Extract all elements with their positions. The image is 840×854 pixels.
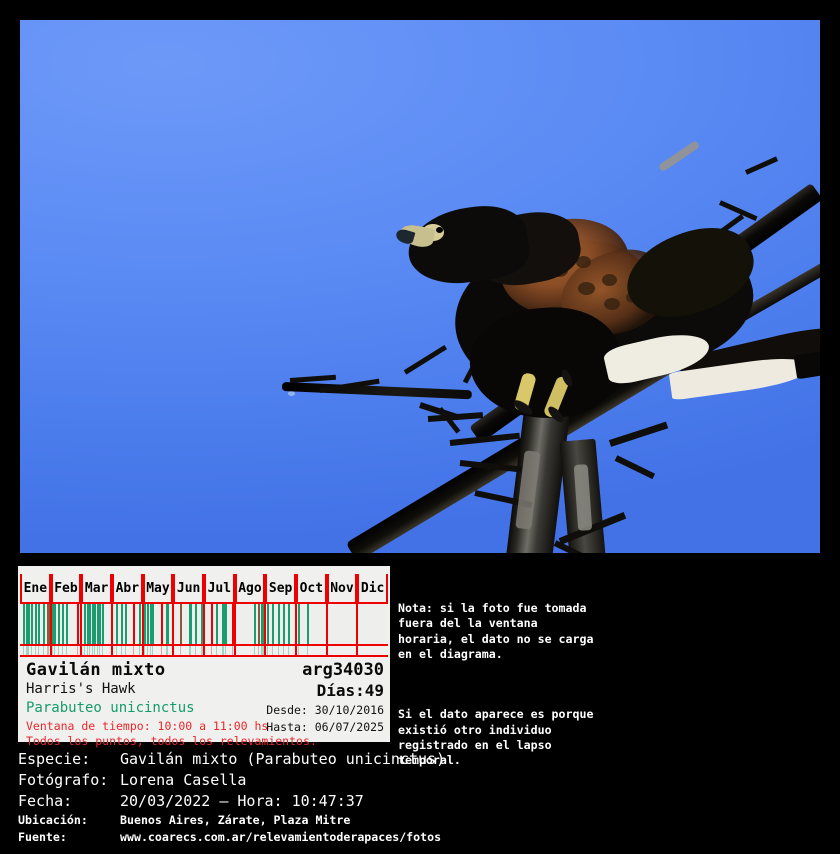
observation-tick (166, 604, 169, 644)
observation-tick (102, 646, 103, 655)
observation-tick (254, 646, 255, 655)
observation-tick (288, 604, 290, 644)
month-label: Sep (269, 581, 292, 596)
month-separator (326, 646, 328, 655)
month-separator (142, 646, 144, 655)
observation-tick (216, 646, 217, 655)
month-separator (80, 602, 82, 646)
observation-tick (77, 646, 78, 655)
date-from: Desde: 30/10/2016 (266, 703, 384, 717)
month-cell-dic[interactable]: Dic (357, 574, 388, 602)
month-label: Ene (24, 581, 47, 596)
observation-tick (89, 646, 90, 655)
metadata-label: Fecha: (18, 792, 72, 810)
observation-tick (94, 646, 95, 655)
observation-tick (278, 604, 280, 644)
observation-tick (26, 604, 30, 644)
month-cell-oct[interactable]: Oct (296, 574, 327, 602)
observation-tick (31, 604, 33, 644)
observation-tick (23, 604, 25, 644)
observation-tick (161, 604, 163, 644)
metadata-row: Especie:Gavilán mixto (Parabuteo unicinc… (18, 750, 818, 771)
month-separator (234, 602, 236, 646)
observation-tick (23, 646, 24, 655)
plumage-spot (602, 274, 617, 286)
observation-tick (43, 646, 44, 655)
observation-tick (152, 604, 154, 644)
photo-metadata: Especie:Gavilán mixto (Parabuteo unicinc… (18, 750, 818, 847)
month-separator (142, 602, 144, 646)
observation-tick (147, 646, 148, 655)
observation-tick (116, 646, 117, 655)
month-separator (50, 646, 52, 655)
observation-tick (35, 604, 37, 644)
observation-tick (267, 646, 268, 655)
month-separator (234, 646, 236, 655)
date-to: Hasta: 06/07/2025 (266, 720, 384, 734)
days-count: Días:49 (317, 681, 384, 700)
observation-tick (222, 646, 224, 655)
observation-tick (87, 646, 88, 655)
observation-tick (121, 646, 122, 655)
metadata-row: Fotógrafo:Lorena Casella (18, 771, 818, 792)
observation-tick (298, 646, 299, 655)
all-points-label: Todos los puntos, todos los relevamiento… (26, 734, 317, 748)
observation-tick (283, 604, 285, 644)
observation-tick (254, 604, 256, 644)
month-header-row: EneFebMarAbrMayJunJulAgoSepOctNovDic (20, 574, 388, 602)
metadata-row: Fuente:www.coarecs.com.ar/relevamientode… (18, 830, 818, 847)
observation-tick (102, 604, 104, 644)
metadata-label: Especie: (18, 750, 90, 768)
observation-tick (195, 646, 196, 655)
month-separator (111, 602, 113, 646)
record-code: arg34030 (302, 660, 384, 680)
observation-tick (58, 646, 59, 655)
month-cell-jul[interactable]: Jul (204, 574, 235, 602)
plumage-spot (578, 282, 595, 295)
observation-tick (144, 646, 145, 655)
month-separator (172, 646, 174, 655)
metadata-label: Fuente: (18, 830, 67, 844)
observation-tick (133, 646, 134, 655)
metadata-row: Fecha:20/03/2022 — Hora: 10:47:37 (18, 792, 818, 813)
month-label: Dic (361, 581, 384, 596)
month-cell-jun[interactable]: Jun (173, 574, 204, 602)
observation-tick (189, 646, 191, 655)
observation-tick (161, 646, 162, 655)
metadata-value: Lorena Casella (120, 771, 246, 789)
time-window-label: Ventana de tiempo: 10:00 a 11:00 hs. (26, 719, 275, 733)
month-label: Mar (85, 581, 108, 596)
month-separator (50, 602, 52, 646)
month-separator (111, 646, 113, 655)
month-cell-feb[interactable]: Feb (51, 574, 82, 602)
metadata-label: Ubicación: (18, 813, 88, 827)
month-label: Feb (54, 581, 77, 596)
observation-tick (47, 646, 49, 655)
note-paragraph-1: Nota: si la foto fue tomada fuera del la… (398, 601, 598, 663)
observation-tick (258, 646, 259, 655)
observation-tick (54, 646, 55, 655)
month-label: Jun (177, 581, 200, 596)
month-separator (356, 646, 358, 655)
observation-tick (92, 646, 93, 655)
hawk-eye (436, 227, 443, 233)
metadata-value: www.coarecs.com.ar/relevamientoderapaces… (120, 830, 441, 844)
observation-tick (58, 604, 60, 644)
observation-tick (116, 604, 118, 644)
month-separator (203, 602, 205, 646)
month-separator (80, 646, 82, 655)
observation-tick (222, 604, 225, 644)
month-label: Jul (208, 581, 231, 596)
metadata-row: Ubicación:Buenos Aires, Zárate, Plaza Mi… (18, 813, 818, 830)
month-label: May (146, 581, 169, 596)
month-separator (295, 646, 297, 655)
month-separator (356, 602, 358, 646)
observation-tick (189, 604, 192, 644)
month-label: Nov (330, 581, 353, 596)
species-info-block: Gavilán mixto Harris's Hawk Parabuteo un… (18, 658, 390, 742)
month-cell-ago[interactable]: Ago (235, 574, 266, 602)
observation-tick (307, 646, 308, 655)
metadata-label: Fotógrafo: (18, 771, 108, 789)
observation-tick (166, 646, 168, 655)
observation-tick (307, 604, 309, 644)
phenology-diagram-panel: EneFebMarAbrMayJunJulAgoSepOctNovDic Gav… (18, 566, 390, 742)
observation-tick (298, 604, 300, 644)
common-name: Gavilán mixto (26, 660, 166, 680)
observation-tick (195, 604, 197, 644)
month-cell-ene[interactable]: Ene (20, 574, 51, 602)
observation-tick (35, 646, 36, 655)
observation-tick (62, 604, 64, 644)
observation-tick (180, 604, 182, 644)
month-label: Ago (238, 581, 261, 596)
observation-tick (31, 646, 32, 655)
month-cell-nov[interactable]: Nov (327, 574, 358, 602)
observation-tick (99, 646, 100, 655)
observation-tick (272, 604, 274, 644)
observation-tick (66, 646, 67, 655)
month-separator (264, 646, 266, 655)
observation-tick (267, 604, 269, 644)
species-photo (20, 20, 820, 553)
month-label: Abr (116, 581, 139, 596)
observation-tick (125, 604, 127, 644)
plumage-spot (604, 298, 620, 310)
observation-tick (258, 604, 260, 644)
observation-tick-strip-secondary (20, 646, 388, 657)
observation-tick (272, 646, 273, 655)
month-separator (264, 602, 266, 646)
metadata-value: Buenos Aires, Zárate, Plaza Mitre (120, 813, 350, 827)
month-cell-mar[interactable]: Mar (81, 574, 112, 602)
harris-hawk (400, 198, 750, 433)
observation-tick (66, 604, 68, 644)
scientific-name: Parabuteo unicinctus (26, 700, 195, 716)
observation-tick (43, 604, 45, 644)
observation-tick (150, 646, 151, 655)
month-separator (203, 646, 205, 655)
month-separator (295, 602, 297, 646)
observation-tick (278, 646, 279, 655)
observation-tick (216, 604, 218, 644)
month-cell-sep[interactable]: Sep (265, 574, 296, 602)
observation-tick (283, 646, 284, 655)
observation-tick (97, 646, 98, 655)
observation-tick (121, 604, 123, 644)
observation-tick (62, 646, 63, 655)
observation-tick (84, 646, 85, 655)
observation-tick (180, 646, 181, 655)
month-separator (326, 602, 328, 646)
observation-tick (77, 604, 79, 644)
observation-tick (225, 604, 227, 644)
observation-tick (54, 604, 56, 644)
observation-tick (38, 646, 39, 655)
metadata-value: Gavilán mixto (Parabuteo unicinctus) (120, 750, 445, 768)
observation-tick (288, 646, 289, 655)
month-cell-may[interactable]: May (143, 574, 174, 602)
observation-tick (211, 646, 212, 655)
observation-tick (152, 646, 153, 655)
english-name: Harris's Hawk (26, 681, 136, 697)
month-label: Oct (300, 581, 323, 596)
month-separator (172, 602, 174, 646)
observation-tick (139, 646, 140, 655)
observation-tick (125, 646, 126, 655)
observation-tick (26, 646, 29, 655)
month-cell-abr[interactable]: Abr (112, 574, 143, 602)
observation-tick (38, 604, 40, 644)
observation-tick (133, 604, 135, 644)
observation-tick (211, 604, 213, 644)
observation-tick-strip[interactable] (20, 602, 388, 646)
metadata-value: 20/03/2022 — Hora: 10:47:37 (120, 792, 364, 810)
observation-tick (225, 646, 226, 655)
